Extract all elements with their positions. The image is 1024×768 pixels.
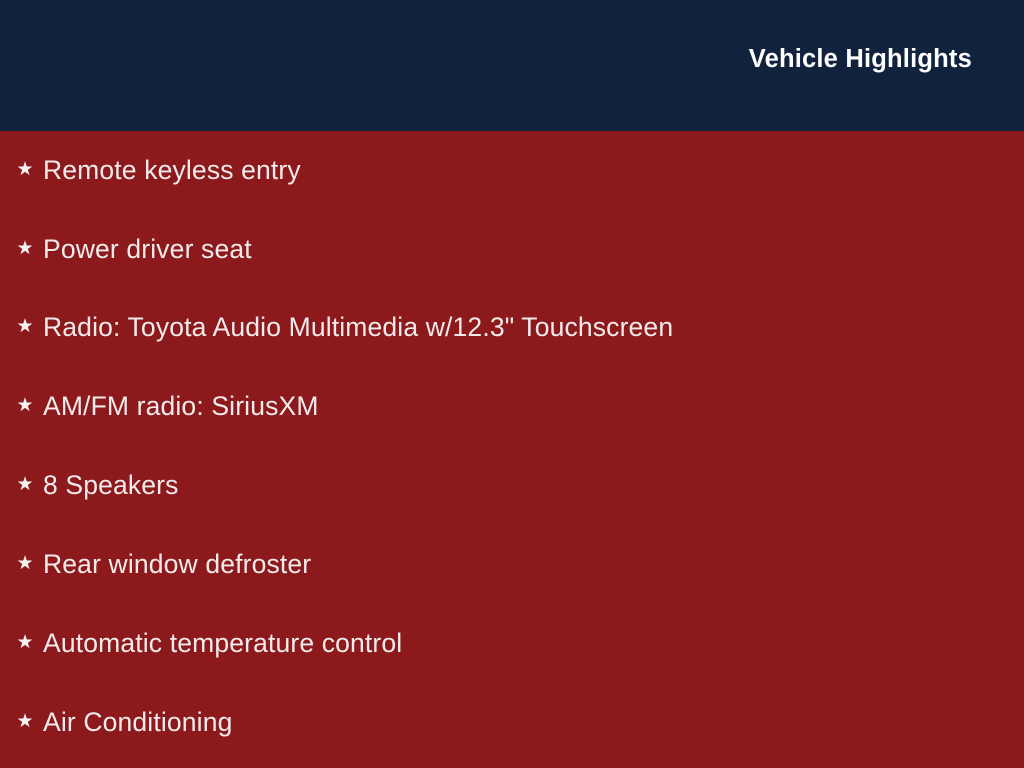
star-icon: ★ xyxy=(10,633,40,652)
highlight-label: Remote keyless entry xyxy=(43,157,301,184)
highlight-label: Power driver seat xyxy=(43,236,252,263)
slide-header-band: Vehicle Highlights xyxy=(0,0,1024,131)
star-icon: ★ xyxy=(10,475,40,494)
star-icon: ★ xyxy=(10,554,40,573)
vehicle-highlights-slide: Vehicle Highlights ★ Remote keyless entr… xyxy=(0,0,1024,768)
highlight-label: Radio: Toyota Audio Multimedia w/12.3" T… xyxy=(43,314,673,341)
star-icon: ★ xyxy=(10,160,40,179)
highlight-label: 8 Speakers xyxy=(43,472,179,499)
list-item: ★ Rear window defroster xyxy=(0,548,1024,580)
highlight-label: AM/FM radio: SiriusXM xyxy=(43,393,319,420)
list-item: ★ Remote keyless entry xyxy=(0,154,1024,186)
star-icon: ★ xyxy=(10,239,40,258)
list-item: ★ 8 Speakers xyxy=(0,469,1024,501)
page-title: Vehicle Highlights xyxy=(749,47,972,73)
list-item: ★ Automatic temperature control xyxy=(0,627,1024,659)
highlight-label: Automatic temperature control xyxy=(43,630,402,657)
list-item: ★ Radio: Toyota Audio Multimedia w/12.3"… xyxy=(0,311,1024,343)
vehicle-highlights-list: ★ Remote keyless entry ★ Power driver se… xyxy=(0,131,1024,768)
list-item: ★ Air Conditioning xyxy=(0,706,1024,738)
star-icon: ★ xyxy=(10,712,40,731)
star-icon: ★ xyxy=(10,396,40,415)
list-item: ★ AM/FM radio: SiriusXM xyxy=(0,390,1024,422)
highlight-label: Air Conditioning xyxy=(43,709,232,736)
highlight-label: Rear window defroster xyxy=(43,551,311,578)
star-icon: ★ xyxy=(10,317,40,336)
list-item: ★ Power driver seat xyxy=(0,233,1024,265)
